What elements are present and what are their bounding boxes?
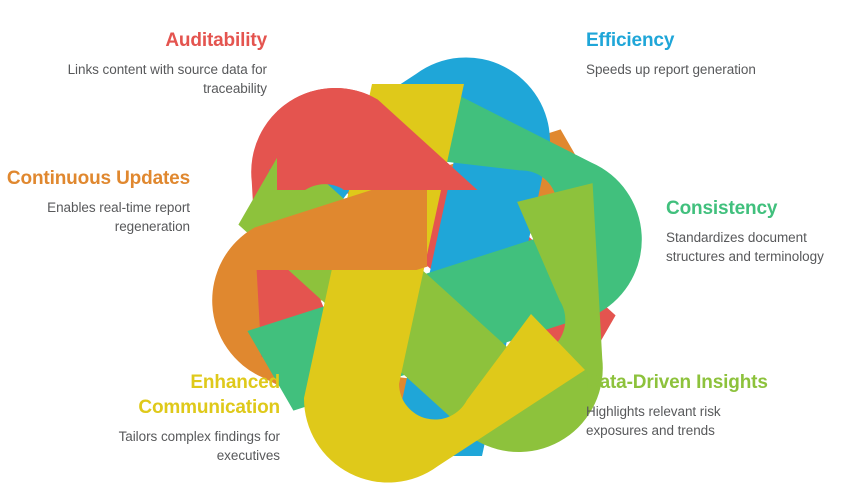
infographic-canvas: Auditability Links content with source d… [0,0,853,492]
band-yellow [304,84,585,483]
band-blue [269,57,550,456]
item-title: Data-Driven Insights [586,370,786,395]
item-continuous-updates: Continuous Updates Enables real-time rep… [0,166,190,236]
item-description: Links content with source data for trace… [67,60,267,98]
item-enhanced-communication: Enhanced Communication Tailors complex f… [80,370,280,465]
item-title: Auditability [67,28,267,53]
item-description: Enables real-time report regeneration [0,198,190,236]
item-description: Tailors complex findings for executives [80,427,280,465]
item-description: Highlights relevant risk exposures and t… [586,402,786,440]
item-description: Speeds up report generation [586,60,796,79]
item-title: Enhanced Communication [80,370,280,420]
item-consistency: Consistency Standardizes document struct… [666,196,853,266]
item-description: Standardizes document structures and ter… [666,228,853,266]
item-title: Continuous Updates [0,166,190,191]
item-auditability: Auditability Links content with source d… [67,28,267,98]
item-title: Efficiency [586,28,796,53]
item-efficiency: Efficiency Speeds up report generation [586,28,796,79]
item-title: Consistency [666,196,853,221]
item-data-driven-insights: Data-Driven Insights Highlights relevant… [586,370,786,440]
